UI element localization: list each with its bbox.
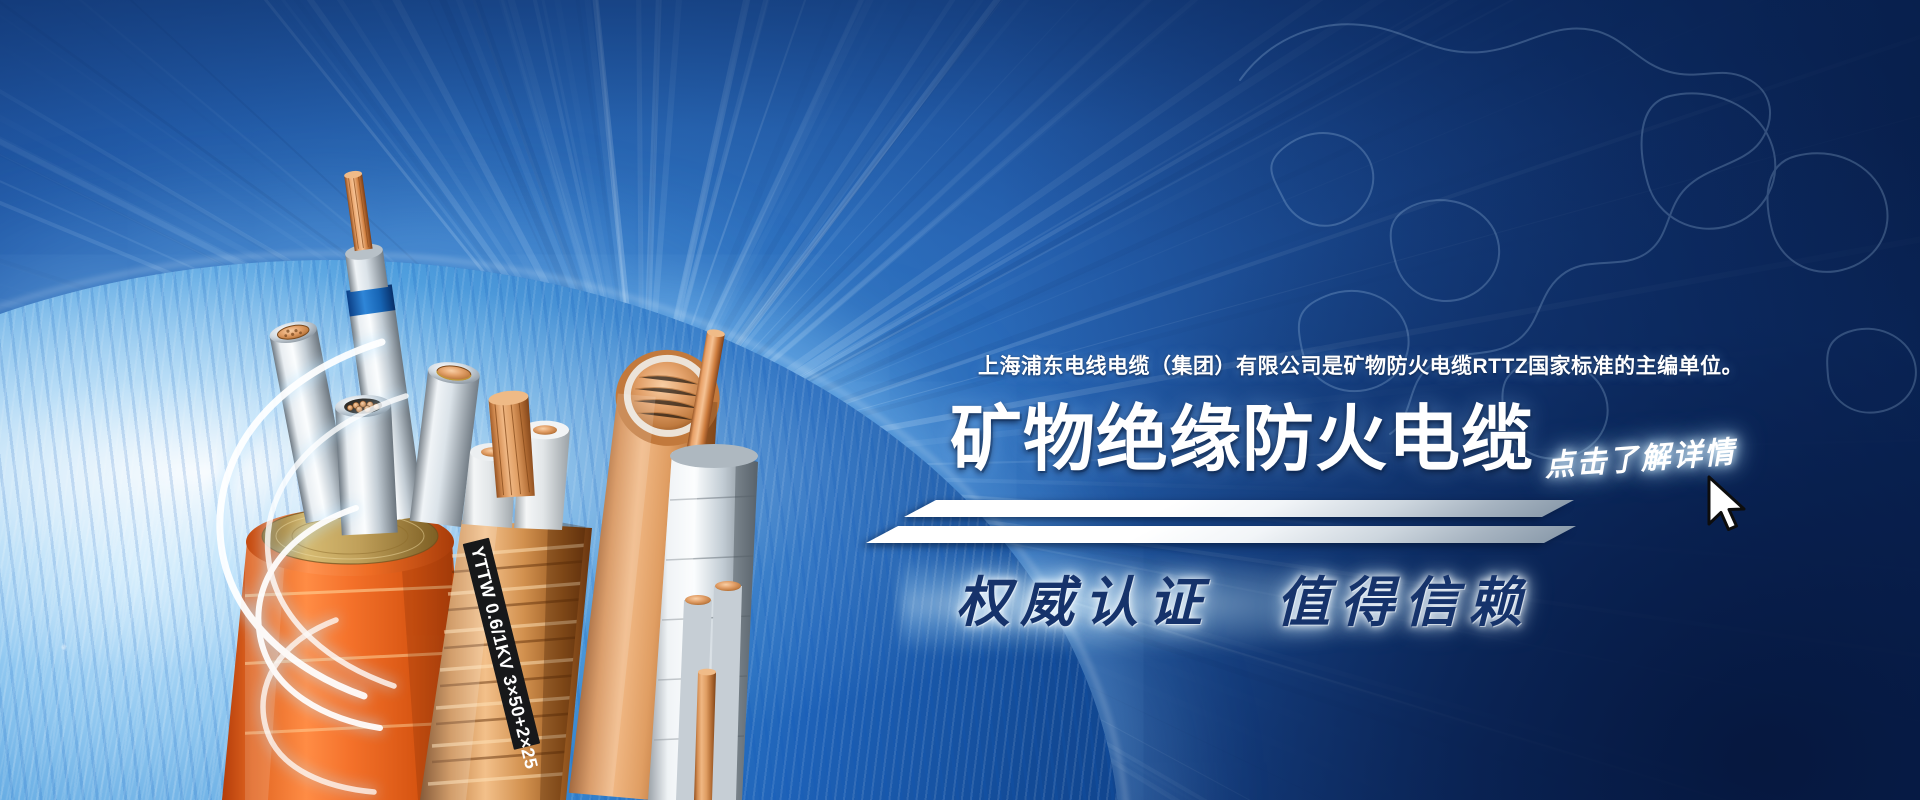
banner-slogan: 权威认证 值得信赖 xyxy=(956,558,1532,637)
page-title: 矿物绝缘防火电缆 xyxy=(950,380,1534,485)
decorative-bar-top xyxy=(904,500,1574,517)
banner-copy: 上海浦东电线电缆（集团）有限公司是矿物防火电缆RTTZ国家标准的主编单位。 矿物… xyxy=(960,336,1780,676)
decorative-bars xyxy=(882,496,1622,558)
decorative-bar-bottom xyxy=(866,526,1576,543)
banner-tagline: 上海浦东电线电缆（集团）有限公司是矿物防火电缆RTTZ国家标准的主编单位。 xyxy=(978,350,1743,380)
learn-more-link[interactable]: 点击了解详情 xyxy=(1543,427,1738,485)
hero-banner: YTTW 0.6/1KV 3×50+2×25 xyxy=(0,0,1920,800)
